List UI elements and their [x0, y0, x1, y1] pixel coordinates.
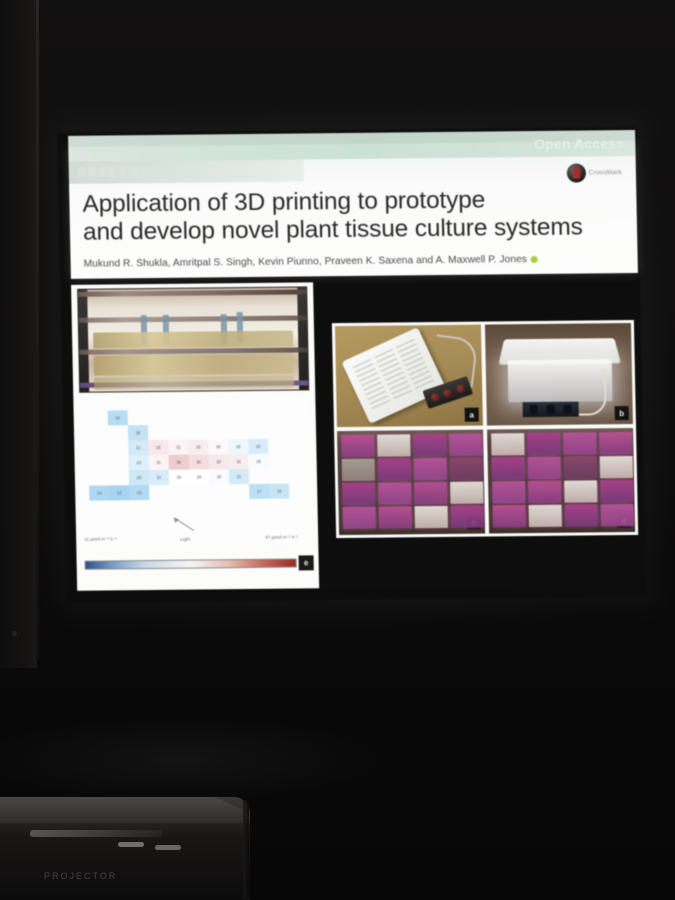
culture-vessel-stack — [341, 435, 376, 531]
heatmap-label-center: Light — [180, 537, 190, 542]
projector-vent — [30, 830, 162, 837]
heatmap-cell: 17 — [249, 484, 269, 499]
heatmap-cell: 21 — [229, 469, 249, 484]
vessel-controller — [522, 402, 578, 418]
vessel-power-cable — [578, 369, 607, 415]
orcid-icon[interactable] — [531, 256, 538, 263]
culture-vessel — [492, 457, 525, 479]
light-intensity-heatmap: 11 µmol m⁻² s⁻¹ Light 47 µmol m⁻² s⁻¹ 16… — [79, 396, 312, 546]
heatmap-cell: 22 — [248, 439, 268, 454]
culture-vessel — [379, 506, 412, 528]
heatmap-cell: 33 — [148, 440, 168, 455]
culture-vessel — [413, 434, 446, 456]
culture-vessel — [599, 432, 632, 454]
heatmap-label-left: 11 µmol m⁻² s⁻¹ — [84, 536, 117, 542]
culture-vessel-stack — [599, 432, 634, 528]
culture-vessel-stack — [527, 433, 562, 529]
wall-screw-dot — [12, 631, 17, 636]
culture-vessel — [563, 432, 596, 454]
projector-brand-label: PROJECTOR — [44, 871, 117, 881]
heatmap-cell: 29 — [189, 469, 209, 484]
photo-panel-a: a — [335, 325, 483, 428]
open-access-label: Open Access — [534, 131, 625, 156]
heatmap-label-right: 47 µmol m⁻² s⁻¹ — [265, 534, 298, 540]
culture-vessel — [378, 482, 411, 504]
figure-right-block: a b c d — [332, 320, 638, 538]
heatmap-cell: 23 — [128, 455, 148, 470]
heatmap-cell: 32 — [188, 439, 208, 454]
culture-vessel — [600, 480, 633, 502]
heatmap-cell: 29 — [169, 470, 189, 485]
culture-vessel-stack — [563, 432, 598, 528]
article-type-label: RESEARCH — [78, 162, 161, 183]
projector-top-face — [0, 797, 250, 823]
culture-vessel — [450, 482, 483, 504]
culture-vessel — [414, 482, 447, 504]
panel-badge-a: a — [465, 408, 479, 422]
panel-badge-b: b — [615, 406, 629, 420]
culture-vessel — [378, 458, 411, 480]
panel-badge-e: e — [299, 555, 314, 570]
room-scene: Open Access RESEARCH CrossMark Applicati… — [0, 0, 675, 900]
author-list: Mukund R. Shukla, Amritpal S. Singh, Kev… — [84, 253, 629, 270]
photo-panel-d: d — [487, 428, 635, 534]
culture-vessel — [449, 434, 482, 456]
heatmap-cell: 19 — [269, 484, 289, 499]
heatmap-cell: 22 — [149, 470, 169, 485]
culture-vessel — [527, 433, 560, 455]
heatmap-cell: 28 — [248, 454, 268, 469]
heatmap-cell: 38 — [168, 455, 188, 470]
photo-panel-c: c — [337, 430, 485, 536]
heatmap-colorbar — [85, 558, 297, 569]
heatmap-cell: 33 — [208, 454, 228, 469]
projector-device: PROJECTOR — [0, 797, 250, 900]
culture-vessel — [341, 435, 374, 457]
heatmap-cell: 16 — [108, 410, 128, 425]
heatmap-cell: 15 — [129, 485, 149, 500]
title-line-2: and develop novel plant tissue culture s… — [83, 213, 624, 247]
culture-vessel — [565, 504, 598, 526]
culture-vessel — [528, 457, 561, 479]
figure-left-column: 11 µmol m⁻² s⁻¹ Light 47 µmol m⁻² s⁻¹ 16… — [71, 282, 319, 590]
culture-vessel — [491, 433, 524, 455]
projector-indicator-light-1 — [118, 842, 144, 847]
heatmap-cell: 28 — [209, 469, 229, 484]
culture-vessel — [377, 434, 410, 456]
projected-slide-region: Open Access RESEARCH CrossMark Applicati… — [57, 127, 646, 603]
heatmap-cell: 32 — [228, 454, 248, 469]
heatmap-pointer-arrow — [170, 516, 196, 532]
culture-vessel-stack — [449, 434, 484, 530]
heatmap-cell: 21 — [128, 440, 148, 455]
heatmap-cell: 18 — [128, 425, 148, 440]
wall-left-panel — [0, 0, 37, 668]
culture-vessel — [601, 504, 634, 526]
culture-vessel — [564, 480, 597, 502]
paper-header-card: Open Access RESEARCH CrossMark Applicati… — [68, 141, 638, 279]
heatmap-cell: 14 — [89, 485, 109, 500]
culture-vessel — [564, 456, 597, 478]
culture-vessel — [529, 505, 562, 527]
heatmap-cell: 26 — [228, 439, 248, 454]
culture-vessel-stack — [413, 434, 448, 530]
author-names: Mukund R. Shukla, Amritpal S. Singh, Kev… — [84, 254, 528, 270]
presentation-slide: Open Access RESEARCH CrossMark Applicati… — [57, 127, 646, 603]
culture-vessel — [600, 456, 633, 478]
culture-vessel — [342, 483, 375, 505]
projector-side-edge — [243, 800, 249, 898]
heatmap-cell: 31 — [148, 455, 168, 470]
heatmap-cell: 20 — [129, 470, 149, 485]
wall-edge-line — [36, 0, 39, 660]
rack-photo — [77, 286, 309, 392]
culture-vessel — [450, 458, 483, 480]
culture-vessel — [528, 481, 561, 503]
heatmap-cell: 13 — [109, 485, 129, 500]
culture-vessel — [343, 507, 376, 529]
culture-vessel — [451, 506, 484, 528]
heatmap-cell: 35 — [188, 454, 208, 469]
crossmark-icon — [566, 163, 585, 182]
heatmap-cell: 30 — [208, 439, 228, 454]
crossmark-label: CrossMark — [589, 169, 622, 176]
photo-panel-b: b — [485, 323, 633, 426]
heatmap-cell: 31 — [168, 440, 188, 455]
culture-vessel — [414, 458, 447, 480]
culture-vessel — [492, 481, 525, 503]
crossmark-badge[interactable]: CrossMark — [566, 163, 622, 183]
culture-vessel-stack — [377, 434, 412, 530]
page-title: Application of 3D printing to prototype … — [82, 185, 623, 247]
culture-vessel — [493, 505, 526, 527]
projector-indicator-light-2 — [155, 845, 181, 850]
culture-vessel — [415, 506, 448, 528]
culture-vessel-stack — [491, 433, 526, 529]
culture-vessel — [342, 459, 375, 481]
